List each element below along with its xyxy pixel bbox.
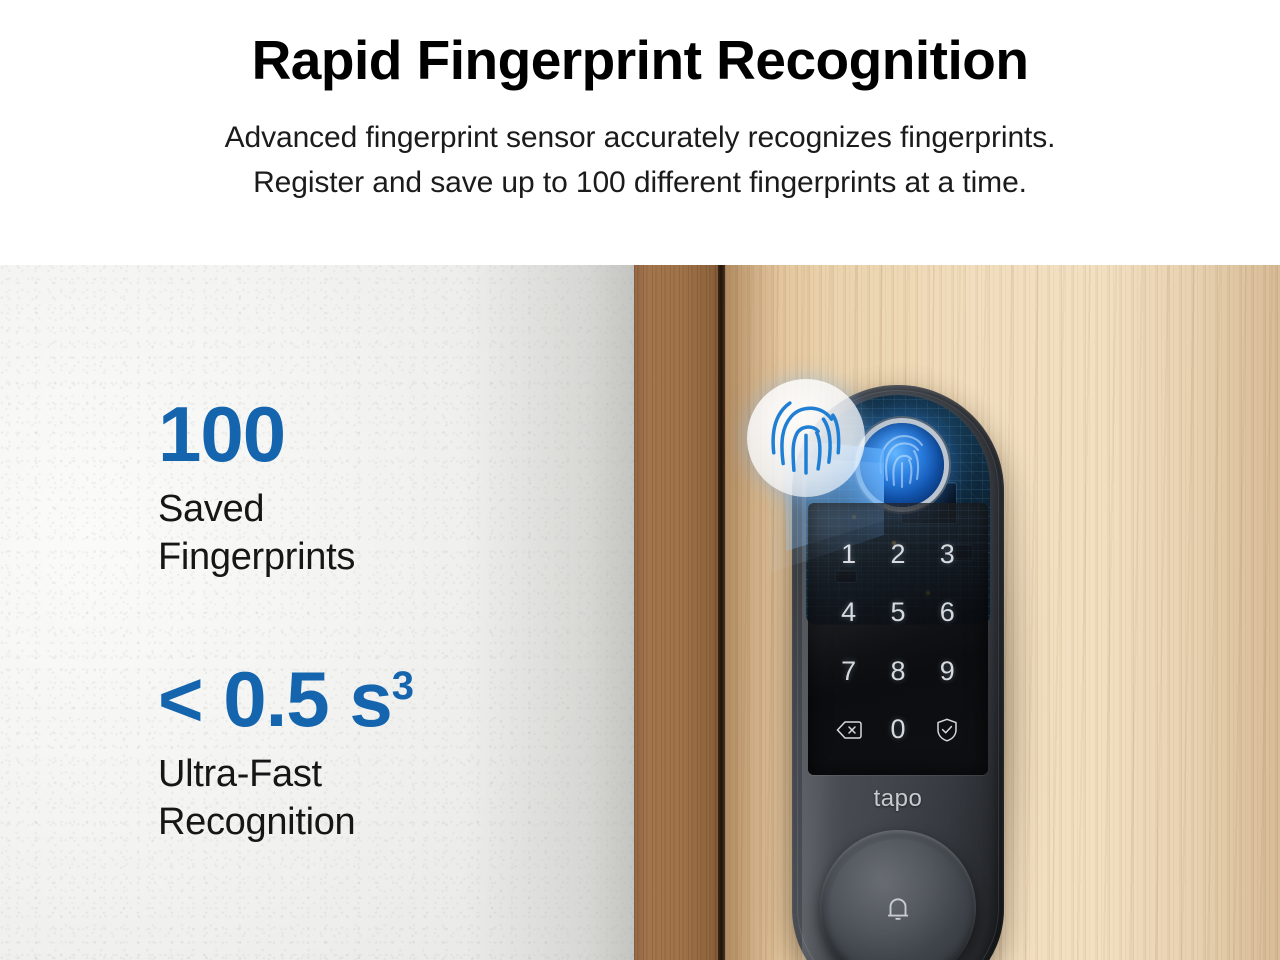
keypad-panel[interactable]: 1 2 3 4 5 6 7 8 9 0 [808, 503, 988, 775]
stat-value: < 0.5 s3 [158, 660, 578, 738]
door-seam [718, 265, 725, 960]
key-8[interactable]: 8 [873, 642, 922, 701]
key-9[interactable]: 9 [923, 642, 972, 701]
sensor-ridge-pattern [870, 433, 934, 497]
stat-label-line-1: Ultra-Fast [158, 750, 578, 798]
subtitle-line-2: Register and save up to 100 different fi… [225, 160, 1056, 205]
stat-label: Ultra-Fast Recognition [158, 750, 578, 847]
stat-superscript: 3 [392, 664, 414, 708]
stats-list: 100 Saved Fingerprints < 0.5 s3 Ultra-Fa… [158, 395, 578, 846]
backspace-icon[interactable] [824, 701, 873, 760]
fingerprint-badge [747, 379, 865, 497]
door-jamb [634, 265, 722, 960]
stat-label-line-2: Recognition [158, 798, 578, 846]
stat-ultra-fast-recognition: < 0.5 s3 Ultra-Fast Recognition [158, 660, 578, 847]
key-4[interactable]: 4 [824, 584, 873, 643]
key-6[interactable]: 6 [923, 584, 972, 643]
fingerprint-sensor[interactable] [860, 423, 944, 507]
page-title: Rapid Fingerprint Recognition [252, 33, 1029, 88]
keypad-grid: 1 2 3 4 5 6 7 8 9 0 [808, 503, 988, 775]
subtitle-line-1: Advanced fingerprint sensor accurately r… [225, 115, 1056, 160]
brand-logo: tapo [792, 785, 1004, 813]
stat-value: 100 [158, 395, 578, 473]
product-photo: 1 2 3 4 5 6 7 8 9 0 [0, 265, 1280, 960]
jamb-wood-grain [634, 265, 722, 960]
stat-label-line-2: Fingerprints [158, 533, 578, 581]
stat-value-text: 100 [158, 390, 285, 478]
smart-lock-device: 1 2 3 4 5 6 7 8 9 0 [792, 385, 1004, 960]
key-0[interactable]: 0 [873, 701, 922, 760]
header-section: Rapid Fingerprint Recognition Advanced f… [0, 0, 1280, 265]
page-subtitle: Advanced fingerprint sensor accurately r… [225, 115, 1056, 205]
stat-label-line-1: Saved [158, 485, 578, 533]
shield-check-icon[interactable] [923, 701, 972, 760]
product-feature-banner: Rapid Fingerprint Recognition Advanced f… [0, 0, 1280, 960]
key-3[interactable]: 3 [923, 525, 972, 584]
bell-icon [883, 893, 913, 923]
key-2[interactable]: 2 [873, 525, 922, 584]
key-7[interactable]: 7 [824, 642, 873, 701]
key-1[interactable]: 1 [824, 525, 873, 584]
stat-label: Saved Fingerprints [158, 485, 578, 582]
stat-saved-fingerprints: 100 Saved Fingerprints [158, 395, 578, 582]
key-5[interactable]: 5 [873, 584, 922, 643]
stat-value-text: < 0.5 s [158, 655, 392, 743]
